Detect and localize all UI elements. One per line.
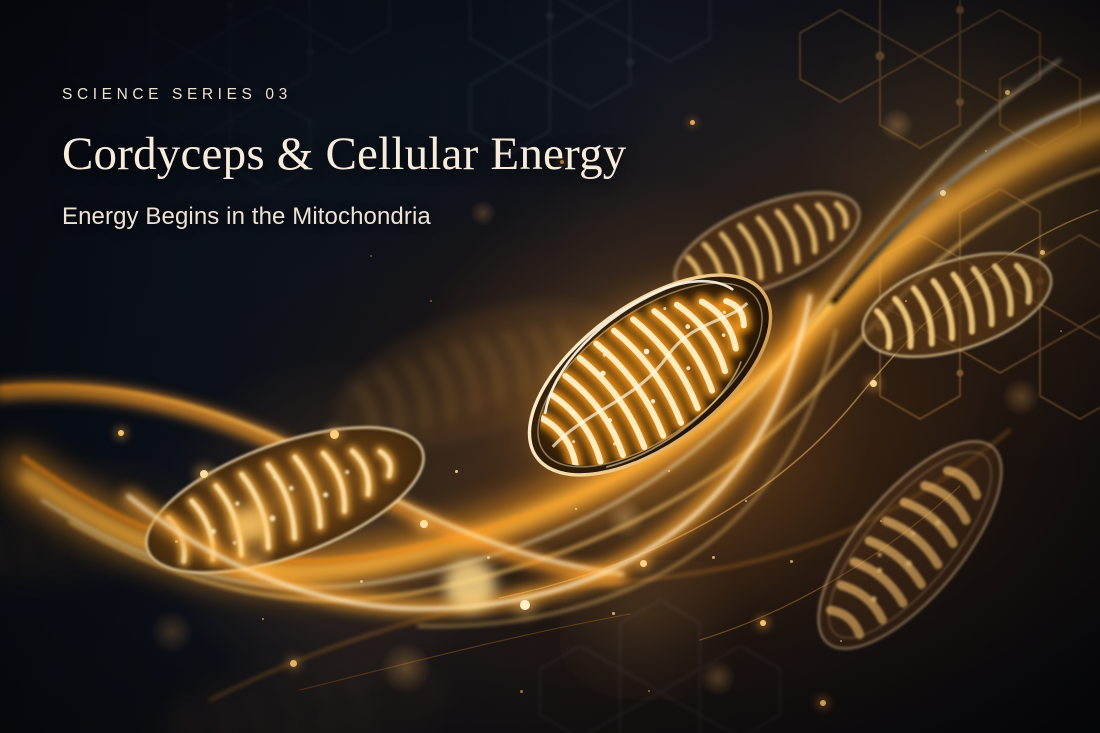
page-subtitle: Energy Begins in the Mitochondria — [62, 203, 627, 231]
eyebrow-label: SCIENCE SERIES 03 — [62, 86, 627, 104]
hero-copy-block: SCIENCE SERIES 03 Cordyceps & Cellular E… — [62, 86, 627, 231]
page-title: Cordyceps & Cellular Energy — [62, 130, 627, 179]
hero-banner: SCIENCE SERIES 03 Cordyceps & Cellular E… — [0, 0, 1100, 733]
